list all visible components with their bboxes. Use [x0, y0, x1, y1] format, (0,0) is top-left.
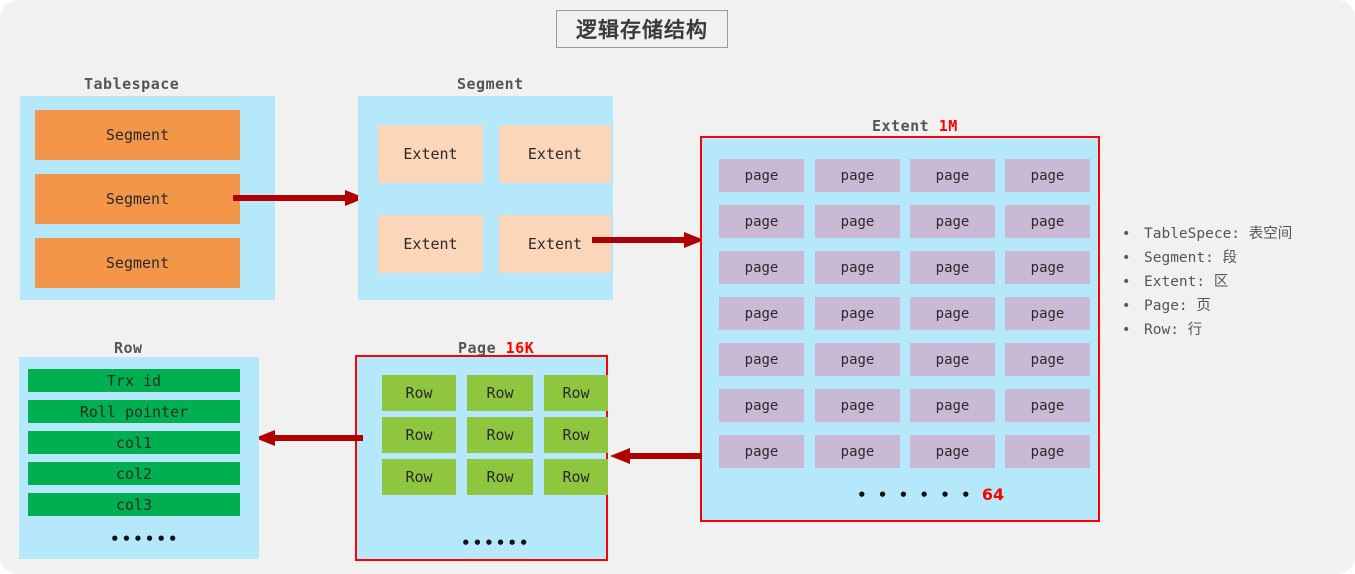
extent-page-15[interactable]: page	[1005, 297, 1090, 330]
extent-page-21[interactable]: page	[815, 389, 900, 422]
bullet-icon: •	[1122, 294, 1144, 318]
segment-container: Extent Extent Extent Extent	[358, 96, 613, 300]
legend-item-label: Segment: 段	[1144, 246, 1237, 270]
page-row-3[interactable]: Row	[382, 417, 456, 453]
extent-page-23[interactable]: page	[1005, 389, 1090, 422]
legend-item-label: TableSpece: 表空间	[1144, 222, 1292, 246]
extent-page-22[interactable]: page	[910, 389, 995, 422]
legend-item-page: • Page: 页	[1122, 294, 1350, 318]
row-field-roll-pointer[interactable]: Roll pointer	[28, 400, 240, 423]
extent-caption: Extent 1M	[872, 117, 958, 135]
row-container: Trx id Roll pointer col1 col2 col3 •••••…	[19, 357, 259, 559]
legend-item-segment: • Segment: 段	[1122, 246, 1350, 270]
legend-item-extent: • Extent: 区	[1122, 270, 1350, 294]
legend: • TableSpece: 表空间 • Segment: 段 • Extent:…	[1122, 222, 1350, 342]
bullet-icon: •	[1122, 222, 1144, 246]
segment-caption: Segment	[457, 75, 524, 93]
page-row-2[interactable]: Row	[544, 375, 608, 411]
extent-page-25[interactable]: page	[815, 435, 900, 468]
extent-page-1[interactable]: page	[815, 159, 900, 192]
page-ellipsis: ••••••	[461, 534, 531, 552]
extent-page-14[interactable]: page	[910, 297, 995, 330]
diagram-canvas: 逻辑存储结构 Tablespace Segment Segment Segmen…	[0, 0, 1355, 574]
bullet-icon: •	[1122, 246, 1144, 270]
segment-extent-1[interactable]: Extent	[499, 125, 611, 183]
legend-item-tablespace: • TableSpece: 表空间	[1122, 222, 1350, 246]
row-field-col2[interactable]: col2	[28, 462, 240, 485]
extent-page-11[interactable]: page	[1005, 251, 1090, 284]
row-ellipsis: ••••••	[110, 530, 180, 548]
segment-extent-2[interactable]: Extent	[378, 215, 483, 273]
extent-page-24[interactable]: page	[719, 435, 804, 468]
legend-item-label: Page: 页	[1144, 294, 1211, 318]
row-field-col3[interactable]: col3	[28, 493, 240, 516]
arrow-tablespace-to-segment	[233, 190, 365, 206]
extent-page-0[interactable]: page	[719, 159, 804, 192]
extent-page-18[interactable]: page	[910, 343, 995, 376]
bullet-icon: •	[1122, 270, 1144, 294]
extent-page-4[interactable]: page	[719, 205, 804, 238]
page-row-4[interactable]: Row	[467, 417, 533, 453]
extent-page-19[interactable]: page	[1005, 343, 1090, 376]
row-field-trx-id[interactable]: Trx id	[28, 369, 240, 392]
extent-page-27[interactable]: page	[1005, 435, 1090, 468]
extent-size: 1M	[939, 117, 958, 135]
legend-item-label: Extent: 区	[1144, 270, 1228, 294]
extent-page-3[interactable]: page	[1005, 159, 1090, 192]
extent-page-2[interactable]: page	[910, 159, 995, 192]
legend-item-label: Row: 行	[1144, 318, 1202, 342]
legend-item-row: • Row: 行	[1122, 318, 1350, 342]
page-row-8[interactable]: Row	[544, 459, 608, 495]
page-title: 逻辑存储结构	[556, 10, 728, 48]
extent-page-20[interactable]: page	[719, 389, 804, 422]
extent-page-12[interactable]: page	[719, 297, 804, 330]
arrow-segment-to-extent	[592, 232, 704, 248]
extent-page-16[interactable]: page	[719, 343, 804, 376]
bullet-icon: •	[1122, 318, 1144, 342]
page-row-1[interactable]: Row	[467, 375, 533, 411]
extent-page-17[interactable]: page	[815, 343, 900, 376]
tablespace-segment-1[interactable]: Segment	[35, 174, 240, 224]
tablespace-segment-2[interactable]: Segment	[35, 238, 240, 288]
extent-page-5[interactable]: page	[815, 205, 900, 238]
page-row-0[interactable]: Row	[382, 375, 456, 411]
extent-page-10[interactable]: page	[910, 251, 995, 284]
extent-page-26[interactable]: page	[910, 435, 995, 468]
extent-page-6[interactable]: page	[910, 205, 995, 238]
row-field-col1[interactable]: col1	[28, 431, 240, 454]
row-caption: Row	[114, 339, 143, 357]
page-row-7[interactable]: Row	[467, 459, 533, 495]
extent-page-8[interactable]: page	[719, 251, 804, 284]
extent-page-7[interactable]: page	[1005, 205, 1090, 238]
extent-page-count: 64	[982, 485, 1004, 504]
arrow-extent-to-page	[610, 448, 702, 464]
page-row-5[interactable]: Row	[544, 417, 608, 453]
segment-extent-0[interactable]: Extent	[378, 125, 483, 183]
tablespace-caption: Tablespace	[84, 75, 179, 93]
extent-page-9[interactable]: page	[815, 251, 900, 284]
extent-container: page page page page page page page page …	[700, 136, 1100, 522]
tablespace-segment-0[interactable]: Segment	[35, 110, 240, 160]
arrow-page-to-row	[255, 430, 363, 446]
page-row-6[interactable]: Row	[382, 459, 456, 495]
extent-page-13[interactable]: page	[815, 297, 900, 330]
extent-ellipsis: • • • • • • 64	[857, 485, 1004, 504]
page-title-text: 逻辑存储结构	[576, 14, 708, 44]
page-container: Row Row Row Row Row Row Row Row Row ••••…	[355, 355, 608, 561]
